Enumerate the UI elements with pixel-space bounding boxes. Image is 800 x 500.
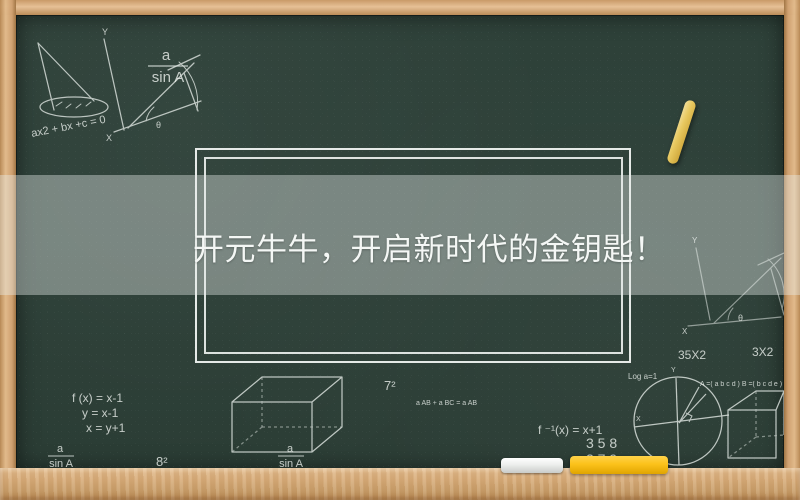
chalk-fx-line1: f (x) = x-1 xyxy=(72,391,123,405)
chalk-vector-identity: a AB + a BC = a AB xyxy=(416,400,477,407)
chalk-sina-denominator: sin A xyxy=(152,69,185,86)
chalk-fx-line2: y = x-1 xyxy=(82,406,119,420)
chalk-log-a1: Log a=1 xyxy=(628,372,658,381)
chalk-a-mid: a xyxy=(287,443,294,455)
frame-top-bevel xyxy=(0,0,800,15)
chalk-a-left: a xyxy=(57,443,64,455)
chalkboard-banner: a sin A Y X θ ax2 + bx +c = 0 θ xyxy=(0,0,800,500)
chalk-theta-right: θ xyxy=(738,313,743,323)
chalk-axis-y-right: Y xyxy=(692,236,698,245)
chalk-eight-squared: 8² xyxy=(156,454,168,469)
frame-right-bevel xyxy=(784,0,800,500)
chalk-matrix-expression: A =( a b c d ) B =( b c d e ) I =( 1 0 0… xyxy=(700,381,784,388)
page-title: 开元牛牛，开启新时代的金钥匙！ xyxy=(193,230,663,270)
chalk-axis-y-left: Y xyxy=(102,27,108,37)
chalk-theta-left: θ xyxy=(156,120,161,130)
eraser-icon xyxy=(570,456,668,474)
chalk-axis-x-left: X xyxy=(106,133,112,143)
frame-left-bevel xyxy=(0,0,16,500)
chalk-seven-squared: 7² xyxy=(384,378,396,393)
chalk-a-numerator: a xyxy=(162,47,171,64)
chalk-sum-top: 3 5 8 xyxy=(586,435,617,451)
chalk-fx-line3: x = y+1 xyxy=(86,421,126,435)
chalk-mult-3x2: 3X2 xyxy=(752,345,774,359)
chalk-mult-35x2: 35X2 xyxy=(678,348,706,362)
chalk-circle-axis-x: X xyxy=(636,416,641,423)
white-chalk-icon xyxy=(501,458,563,473)
chalk-quadratic-equation: ax2 + bx +c = 0 xyxy=(30,114,106,140)
chalk-circle-axis-y: Y xyxy=(671,367,676,374)
chalk-axis-x-right: X xyxy=(682,327,688,336)
chalk-ledge xyxy=(0,468,800,500)
